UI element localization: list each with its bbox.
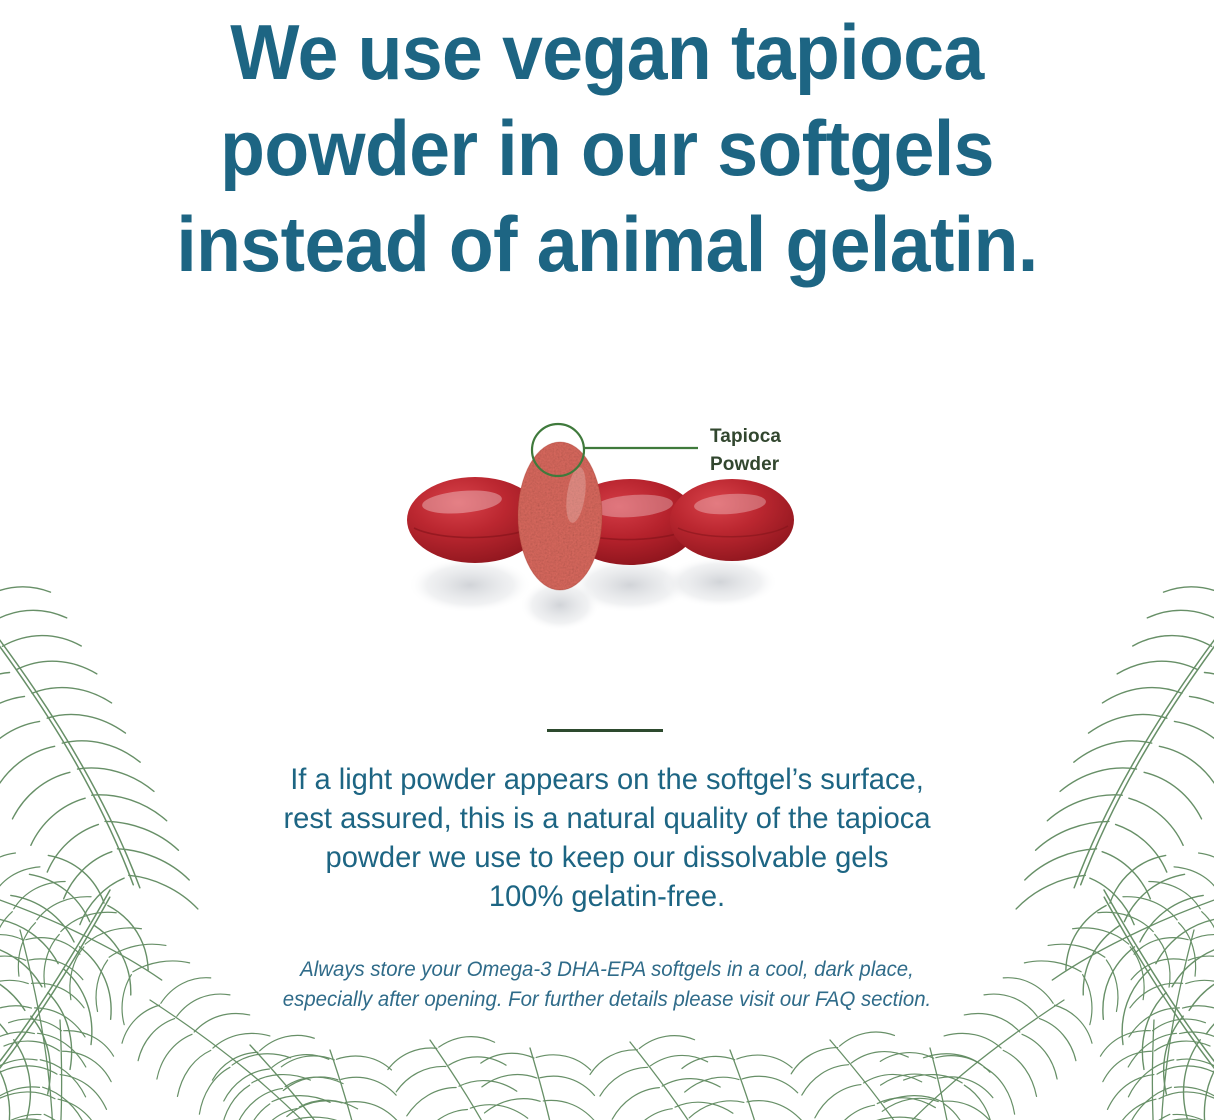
storage-footnote: Always store your Omega-3 DHA-EPA softge…	[209, 955, 1004, 1015]
softgel-dark-right	[670, 479, 794, 561]
page-title-block: We use vegan tapioca powder in our softg…	[0, 0, 1214, 292]
callout-label: Tapioca Powder	[710, 423, 840, 479]
page-title: We use vegan tapioca powder in our softg…	[36, 4, 1177, 292]
section-divider	[547, 729, 663, 732]
softgel-product-figure: Tapioca Powder	[380, 400, 850, 690]
promo-page: We use vegan tapioca powder in our softg…	[0, 0, 1214, 1120]
body-paragraph: If a light powder appears on the softgel…	[209, 760, 1004, 916]
softgel-reflection	[408, 556, 778, 631]
